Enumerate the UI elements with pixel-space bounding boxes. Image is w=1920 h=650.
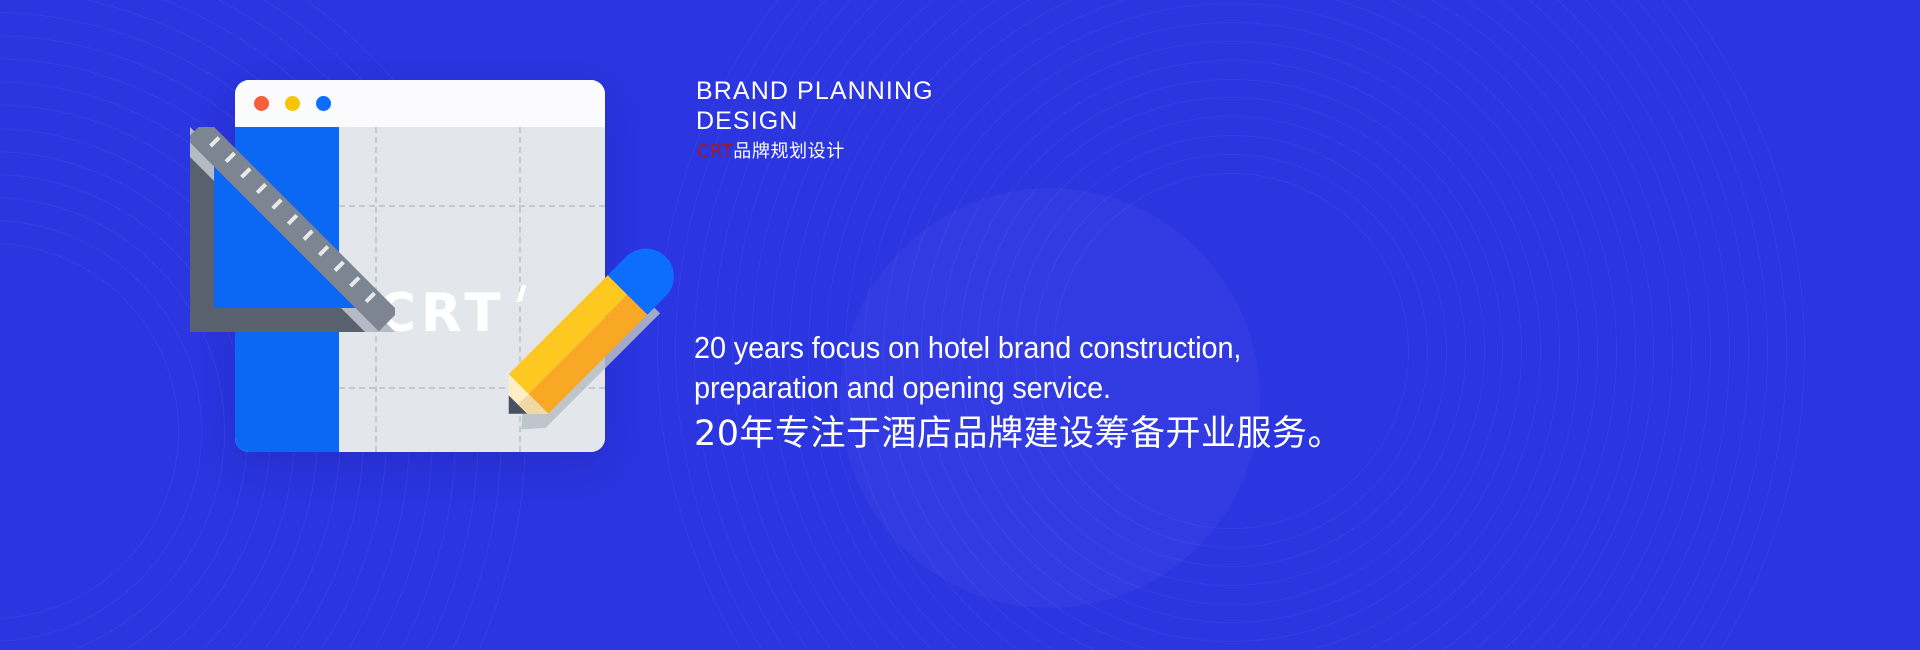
set-square-ruler-icon (190, 127, 395, 332)
subheadline-chinese: 品牌规划设计 (733, 141, 845, 162)
browser-titlebar (235, 80, 605, 127)
headline: BRAND PLANNING DESIGN (696, 76, 934, 136)
minimize-dot-icon (285, 96, 300, 111)
banner-root: CRT (0, 0, 1920, 650)
maximize-dot-icon (316, 96, 331, 111)
subheadline: CRT品牌规划设计 (697, 141, 845, 163)
tagline-english: 20 years focus on hotel brand constructi… (694, 328, 1345, 408)
pencil-icon (470, 228, 686, 444)
close-dot-icon (254, 96, 269, 111)
tagline-chinese: 20年专注于酒店品牌建设筹备开业服务。 (694, 412, 1343, 456)
subheadline-brand: CRT (697, 141, 733, 162)
